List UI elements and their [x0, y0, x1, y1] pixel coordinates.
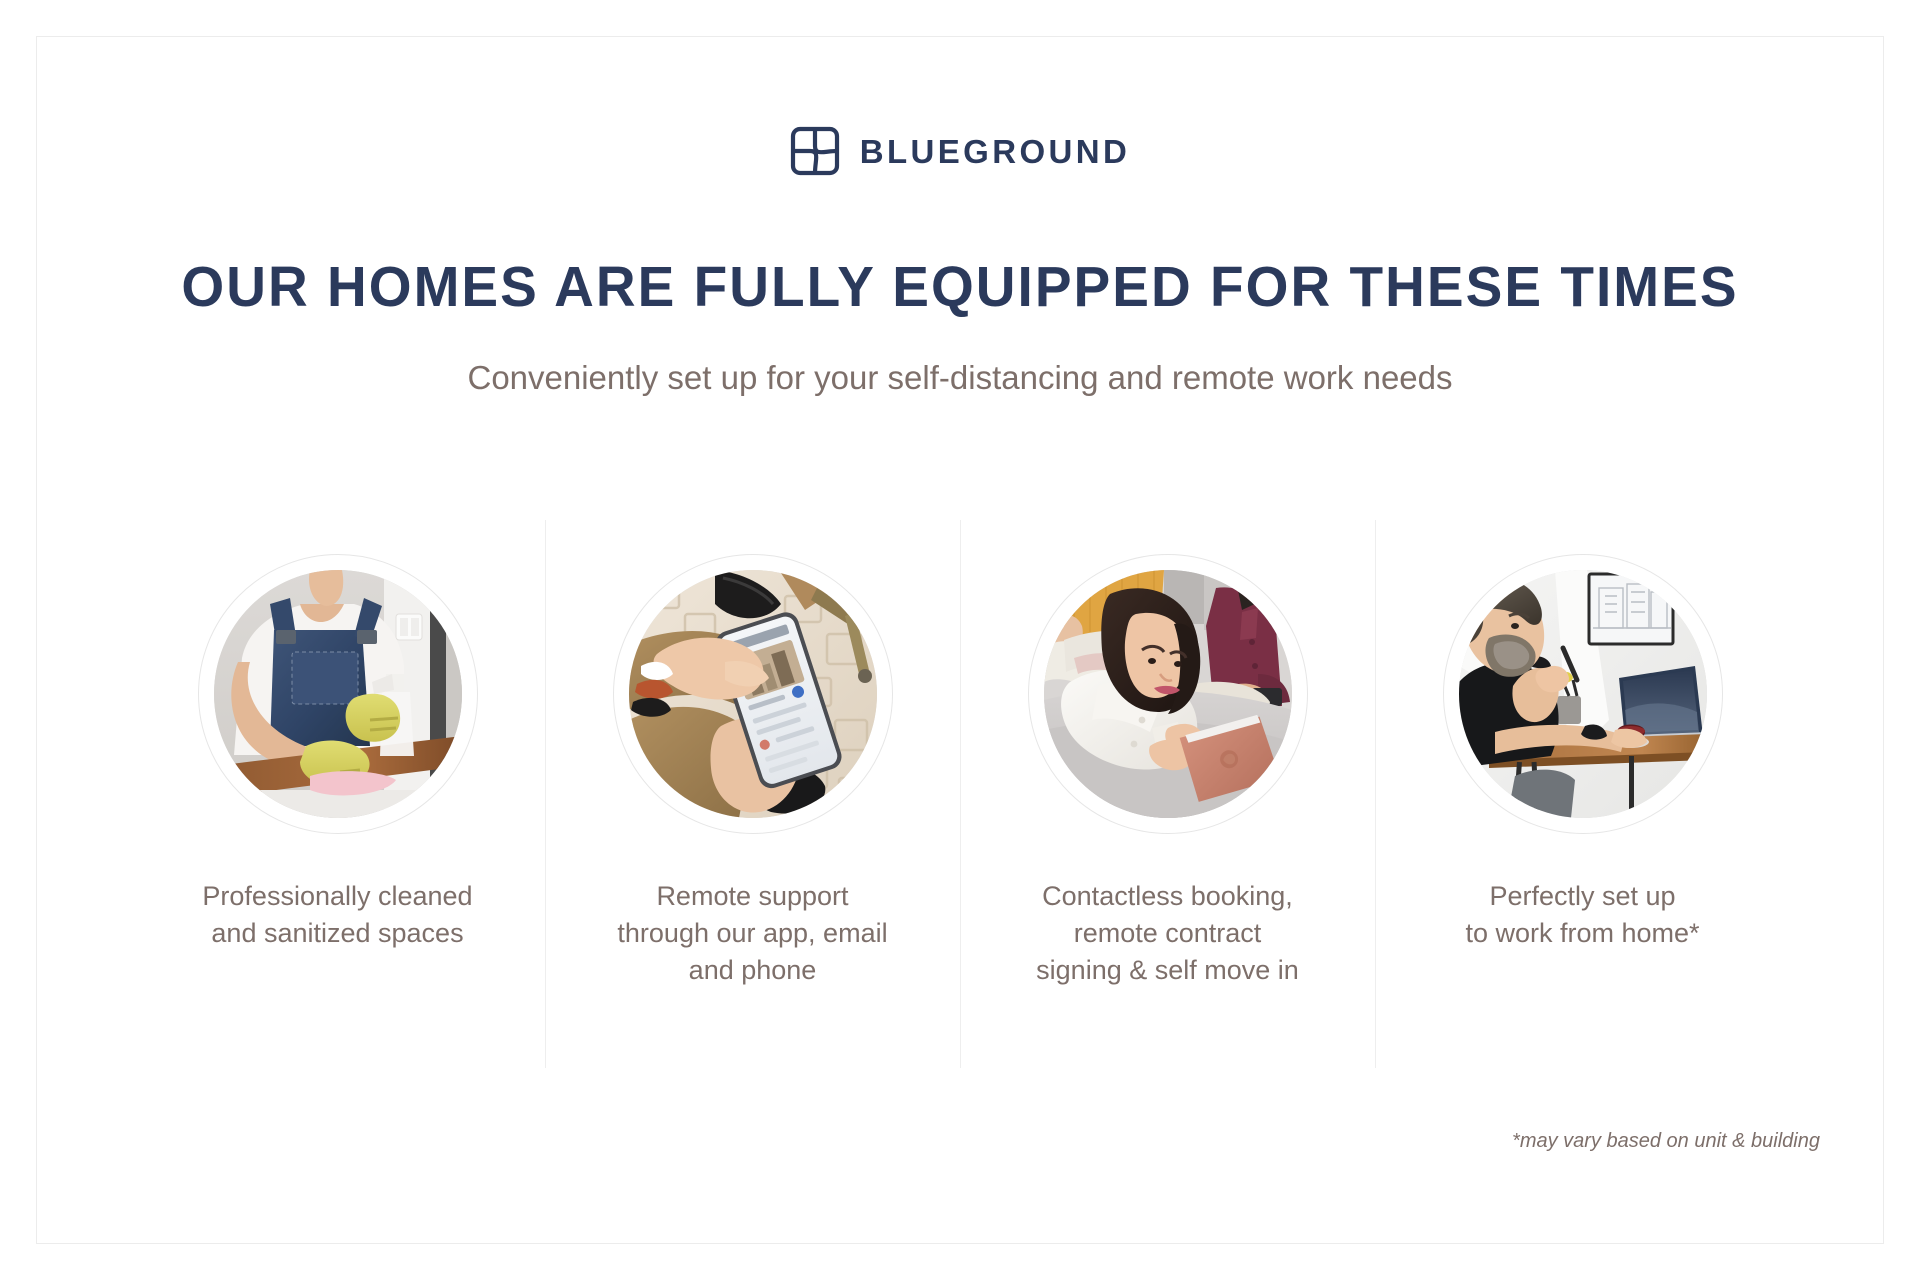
feature-list: Professionally cleaned and sanitized spa…: [130, 520, 1790, 1068]
promo-page: BLUEGROUND OUR HOMES ARE FULLY EQUIPPED …: [0, 0, 1920, 1280]
feature-image-ring: [198, 554, 478, 834]
feature-caption: Perfectly set up to work from home*: [1455, 878, 1709, 952]
page-subtitle: Conveniently set up for your self-distan…: [0, 357, 1920, 400]
feature-caption: Remote support through our app, email an…: [607, 878, 897, 989]
feature-caption: Contactless booking, remote contract sig…: [1026, 878, 1309, 989]
woman-on-bed-with-tablet-photo: [1044, 570, 1292, 818]
feature-item: Remote support through our app, email an…: [545, 520, 960, 1068]
brand-logo: BLUEGROUND: [0, 126, 1920, 176]
feature-caption: Professionally cleaned and sanitized spa…: [192, 878, 482, 952]
feature-image-ring: [1443, 554, 1723, 834]
feature-item: Contactless booking, remote contract sig…: [960, 520, 1375, 1068]
man-working-at-desk-with-laptop-photo: [1459, 570, 1707, 818]
feature-image-ring: [1028, 554, 1308, 834]
blueground-square-icon: [790, 126, 840, 176]
page-title: OUR HOMES ARE FULLY EQUIPPED FOR THESE T…: [34, 258, 1887, 318]
cleaner-sanitizing-surface-photo: [214, 570, 462, 818]
brand-name: BLUEGROUND: [860, 135, 1131, 168]
feature-item: Perfectly set up to work from home*: [1375, 520, 1790, 1068]
feature-item: Professionally cleaned and sanitized spa…: [130, 520, 545, 1068]
hands-holding-smartphone-photo: [629, 570, 877, 818]
footnote: *may vary based on unit & building: [1512, 1130, 1820, 1153]
feature-image-ring: [613, 554, 893, 834]
